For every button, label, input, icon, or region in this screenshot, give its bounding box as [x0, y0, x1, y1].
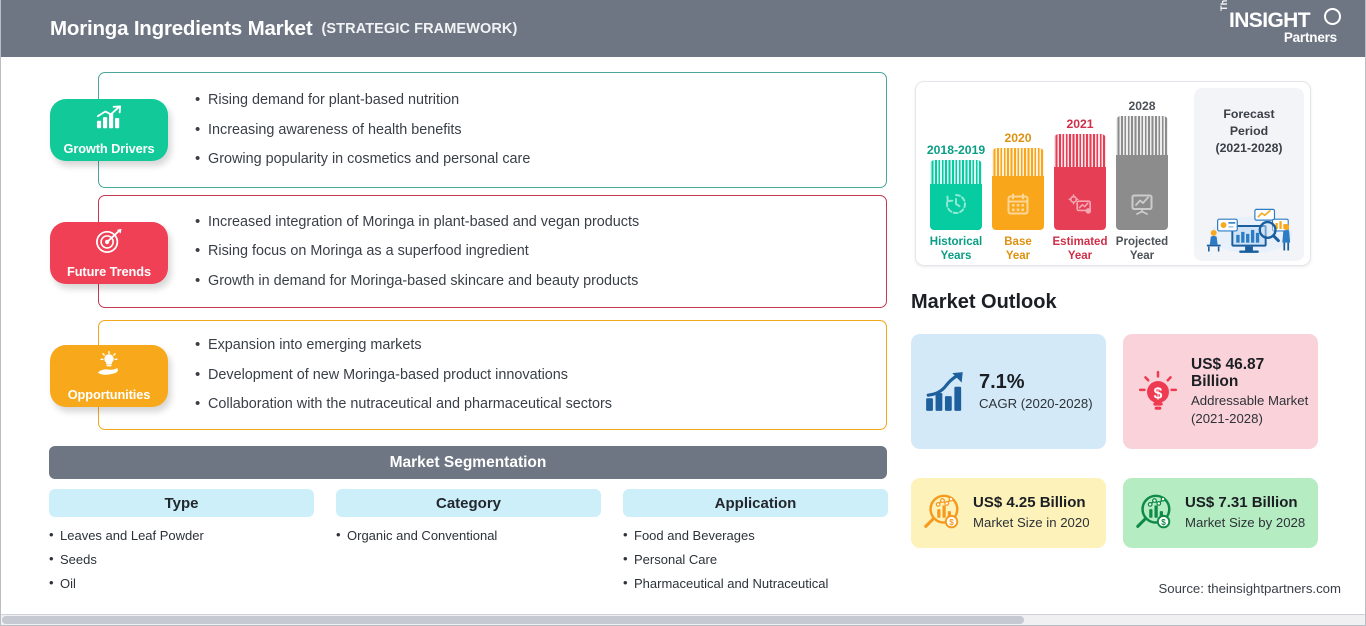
outlook-value: US$ 46.87 Billion — [1191, 356, 1310, 391]
bar-year-label: 2018-2019 — [927, 143, 985, 157]
bar-caption: Historical Years — [930, 235, 982, 265]
logo-ring-icon — [1324, 8, 1341, 25]
segmentation-column-category: Category Organic and Conventional — [336, 489, 601, 545]
outlook-card-text: US$ 4.25 Billion Market Size in 2020 — [973, 495, 1090, 531]
infographic-page: Moringa Ingredients Market (STRATEGIC FR… — [0, 0, 1366, 626]
forecast-range: (2021-2028) — [1194, 141, 1304, 155]
outlook-card-text: 7.1% CAGR (2020-2028) — [979, 371, 1093, 413]
list-item: Food and Beverages — [623, 528, 888, 545]
bar-chart-arrow-icon — [923, 369, 969, 415]
chart-bar-group-base: 2020 Base Year — [992, 82, 1044, 265]
list-item: Collaboration with the nutraceutical and… — [195, 396, 874, 413]
strategy-card-future-trends: Increased integration of Moringa in plan… — [98, 195, 887, 308]
bar-chart-growth-icon — [94, 105, 124, 131]
list-item: Oil — [49, 576, 314, 593]
outlook-label: Market Size in 2020 — [973, 514, 1090, 531]
outlook-value: US$ 4.25 Billion — [973, 495, 1090, 512]
segmentation-column-application: Application Food and Beverages Personal … — [623, 489, 888, 593]
source-text: Source: theinsightpartners.com — [1158, 581, 1341, 596]
bar — [992, 148, 1044, 230]
bar-year-label: 2028 — [1128, 99, 1155, 113]
segmentation-column-type: Type Leaves and Leaf Powder Seeds Oil — [49, 489, 314, 593]
bar-stripe-top — [1116, 116, 1168, 155]
forecast-period-panel: Forecast Period (2021-2028) — [1194, 88, 1304, 261]
list-item: Rising demand for plant-based nutrition — [195, 92, 874, 109]
outlook-card-text: US$ 46.87 Billion Addressable Market (20… — [1191, 356, 1310, 428]
market-segmentation-header: Market Segmentation — [49, 446, 887, 479]
bar — [1116, 116, 1168, 230]
outlook-card-market-size-2020: $ US$ 4.25 Billion Market Size in 2020 — [911, 478, 1106, 548]
list-item: Pharmaceutical and Nutraceutical — [623, 576, 888, 593]
magnifier-chart-icon: $ — [1133, 492, 1175, 534]
bar — [930, 160, 982, 230]
scrollbar-thumb[interactable] — [2, 616, 1024, 624]
bar-year-label: 2020 — [1004, 131, 1031, 145]
bar-stripe-top — [992, 148, 1044, 176]
bar — [1054, 134, 1106, 230]
lightbulb-dollar-icon: $ — [1135, 369, 1181, 415]
segmentation-column-title: Type — [49, 489, 314, 517]
bar-stripe-top — [930, 160, 982, 184]
insight-partners-logo: The INSIGHT Partners — [1219, 8, 1343, 50]
pill-opportunities[interactable]: Opportunities — [50, 345, 168, 407]
horizontal-scrollbar[interactable] — [1, 614, 1366, 625]
list-item: Increasing awareness of health benefits — [195, 122, 874, 139]
bullet-list: Rising demand for plant-based nutrition … — [195, 73, 874, 187]
list-item: Expansion into emerging markets — [195, 337, 874, 354]
magnifier-chart-icon: $ — [921, 492, 963, 534]
pill-future-trends[interactable]: Future Trends — [50, 222, 168, 284]
bar-stripe-top — [1054, 134, 1106, 167]
forecast-title-line2: Period — [1194, 123, 1304, 140]
list-item: Growth in demand for Moringa-based skinc… — [195, 273, 874, 290]
outlook-card-cagr: 7.1% CAGR (2020-2028) — [911, 334, 1106, 449]
pill-label: Growth Drivers — [63, 141, 154, 156]
list-item: Development of new Moringa-based product… — [195, 367, 874, 384]
chart-bar-group-projected: 2028 Projected Year — [1116, 82, 1168, 265]
outlook-label: CAGR (2020-2028) — [979, 395, 1093, 412]
segmentation-item-list: Organic and Conventional — [336, 528, 601, 545]
market-outlook-title: Market Outlook — [911, 291, 1057, 314]
presentation-chart-icon — [1130, 192, 1154, 216]
outlook-label: Market Size by 2028 — [1185, 514, 1305, 531]
list-item: Rising focus on Moringa as a superfood i… — [195, 243, 874, 260]
svg-text:$: $ — [1161, 518, 1166, 527]
page-header: Moringa Ingredients Market (STRATEGIC FR… — [1, 0, 1366, 57]
logo-the-text: The — [1219, 0, 1229, 11]
hand-lightbulb-icon — [94, 351, 124, 377]
page-title: Moringa Ingredients Market — [50, 17, 312, 41]
bullet-list: Expansion into emerging markets Developm… — [195, 321, 874, 429]
svg-text:$: $ — [1154, 385, 1163, 402]
segmentation-item-list: Leaves and Leaf Powder Seeds Oil — [49, 528, 314, 593]
list-item: Organic and Conventional — [336, 528, 601, 545]
outlook-card-addressable-market: $ US$ 46.87 Billion Addressable Market (… — [1123, 334, 1318, 449]
bar-caption: Projected Year — [1116, 235, 1168, 265]
bar-year-label: 2021 — [1066, 117, 1093, 131]
pill-label: Opportunities — [68, 387, 151, 402]
bar-caption: Base Year — [992, 235, 1044, 265]
outlook-card-text: US$ 7.31 Billion Market Size by 2028 — [1185, 495, 1305, 531]
list-item: Growing popularity in cosmetics and pers… — [195, 151, 874, 168]
clock-history-icon — [944, 192, 968, 216]
segmentation-column-title: Application — [623, 489, 888, 517]
outlook-label: Addressable Market (2021-2028) — [1191, 392, 1310, 427]
list-item: Seeds — [49, 552, 314, 569]
list-item: Increased integration of Moringa in plan… — [195, 214, 874, 231]
market-segmentation-title: Market Segmentation — [390, 454, 547, 472]
study-period-chart: 2018-2019 Historical Years 2020 — [915, 81, 1311, 266]
strategy-card-opportunities: Expansion into emerging markets Developm… — [98, 320, 887, 430]
chart-bars: 2018-2019 Historical Years 2020 — [930, 82, 1160, 265]
list-item: Leaves and Leaf Powder — [49, 528, 314, 545]
strategy-card-growth-drivers: Rising demand for plant-based nutrition … — [98, 72, 887, 188]
page-subtitle: (STRATEGIC FRAMEWORK) — [321, 21, 517, 37]
data-analysis-illustration — [1200, 199, 1298, 255]
chart-bar-group-estimated: 2021 Estimated Year — [1054, 82, 1106, 265]
forecast-gear-chart-icon — [1068, 192, 1092, 216]
outlook-card-market-size-2028: $ US$ 7.31 Billion Market Size by 2028 — [1123, 478, 1318, 548]
segmentation-column-title: Category — [336, 489, 601, 517]
outlook-value: 7.1% — [979, 371, 1093, 393]
pill-growth-drivers[interactable]: Growth Drivers — [50, 99, 168, 161]
bullet-list: Increased integration of Moringa in plan… — [195, 196, 874, 307]
outlook-value: US$ 7.31 Billion — [1185, 495, 1305, 512]
svg-text:$: $ — [949, 518, 954, 527]
bar-caption: Estimated Year — [1053, 235, 1108, 265]
calendar-icon — [1006, 192, 1030, 216]
list-item: Personal Care — [623, 552, 888, 569]
target-dart-icon — [94, 228, 124, 254]
logo-partners-text: Partners — [1284, 30, 1337, 45]
chart-bar-group-historical: 2018-2019 Historical Years — [930, 82, 982, 265]
forecast-title-line1: Forecast — [1194, 106, 1304, 123]
segmentation-item-list: Food and Beverages Personal Care Pharmac… — [623, 528, 888, 593]
pill-label: Future Trends — [67, 264, 151, 279]
